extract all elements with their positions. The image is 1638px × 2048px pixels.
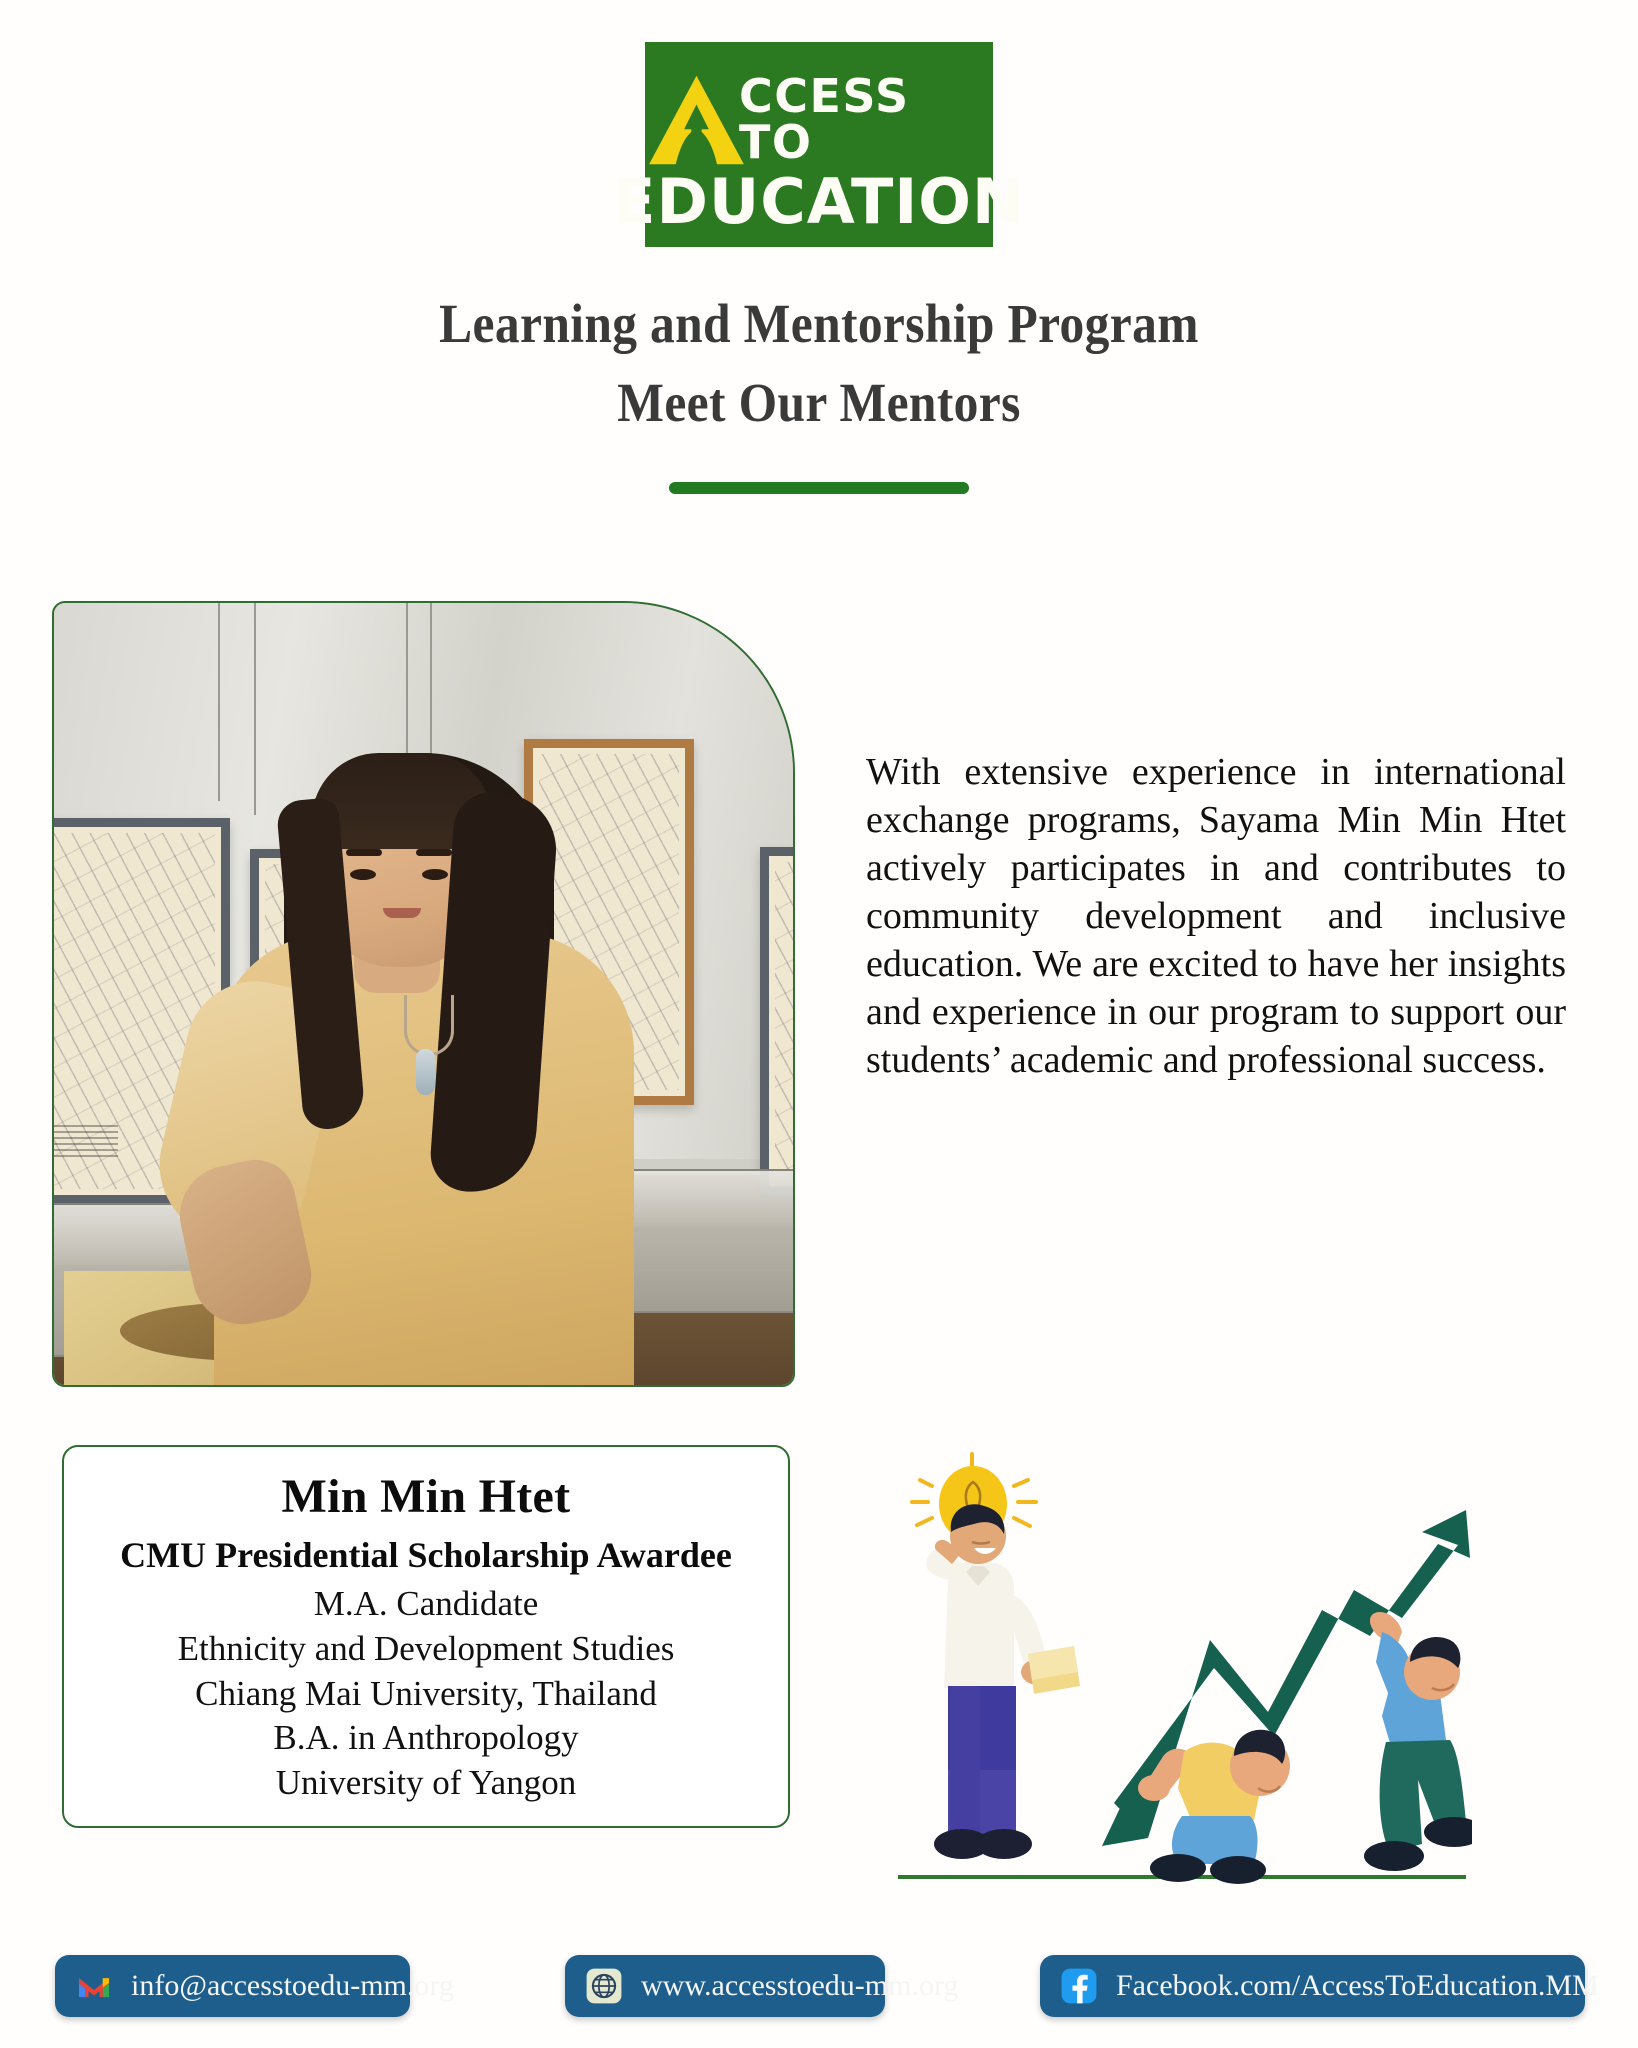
eyebrow-right [416,849,452,856]
logo-container: CCESS TO EDUCATION [0,42,1638,247]
frame-hanging-wire [218,603,220,801]
access-to-education-logo: CCESS TO EDUCATION [645,42,993,247]
page-title: Learning and Mentorship Program Meet Our… [0,292,1638,436]
credential-line: University of Yangon [64,1761,788,1806]
eyebrow-left [346,849,382,856]
mentor-award: CMU Presidential Scholarship Awardee [64,1534,788,1576]
gmail-icon [75,1967,113,2005]
mentor-photo [52,601,795,1387]
logo-top-row: CCESS TO [645,61,993,173]
man-pushing-arrow [1364,1612,1472,1871]
globe-icon [585,1967,623,2005]
credential-line: Chiang Mai University, Thailand [64,1672,788,1717]
framed-map [760,847,795,1195]
eye-left [350,869,376,880]
poster-canvas: CCESS TO EDUCATION Learning and Mentorsh… [0,0,1638,2048]
footer-contact-bar: info@accesstoedu-mm.org www.accesstoedu-… [0,1955,1638,2025]
standing-man-with-idea [927,1504,1080,1859]
frame-hanging-wire [254,603,256,815]
logo-text-education: EDUCATION [613,171,1025,233]
title-line-2: Meet Our Mentors [82,371,1556,436]
contact-website-pill[interactable]: www.accesstoedu-mm.org [565,1955,885,2017]
title-line-1: Learning and Mentorship Program [82,292,1556,357]
green-divider-bar [669,482,969,494]
credential-line: M.A. Candidate [64,1582,788,1627]
triangle-a-mark-icon [645,69,748,173]
mouth [383,908,421,918]
contact-facebook-pill[interactable]: Facebook.com/AccessToEducation.MM [1040,1955,1585,2017]
mentor-bio-text: With extensive experience in internation… [866,748,1566,1084]
divider-container [0,482,1638,494]
contact-email-pill[interactable]: info@accesstoedu-mm.org [55,1955,410,2017]
photo-scene [54,603,793,1385]
logo-text-accessto: CCESS TO [739,73,993,165]
contact-email-label: info@accesstoedu-mm.org [131,1969,454,2003]
pendant [416,1049,435,1095]
contact-facebook-label: Facebook.com/AccessToEducation.MM [1116,1969,1599,2003]
mentor-name: Min Min Htet [64,1469,788,1524]
credential-line: Ethnicity and Development Studies [64,1627,788,1672]
mentor-credentials-card: Min Min Htet CMU Presidential Scholarshi… [62,1445,790,1828]
contact-website-label: www.accesstoedu-mm.org [641,1969,958,2003]
credential-line: B.A. in Anthropology [64,1716,788,1761]
growth-arrow-teamwork-illustration [862,1440,1472,1895]
facebook-icon [1060,1967,1098,2005]
eye-right [422,869,448,880]
necklace [404,995,454,1056]
